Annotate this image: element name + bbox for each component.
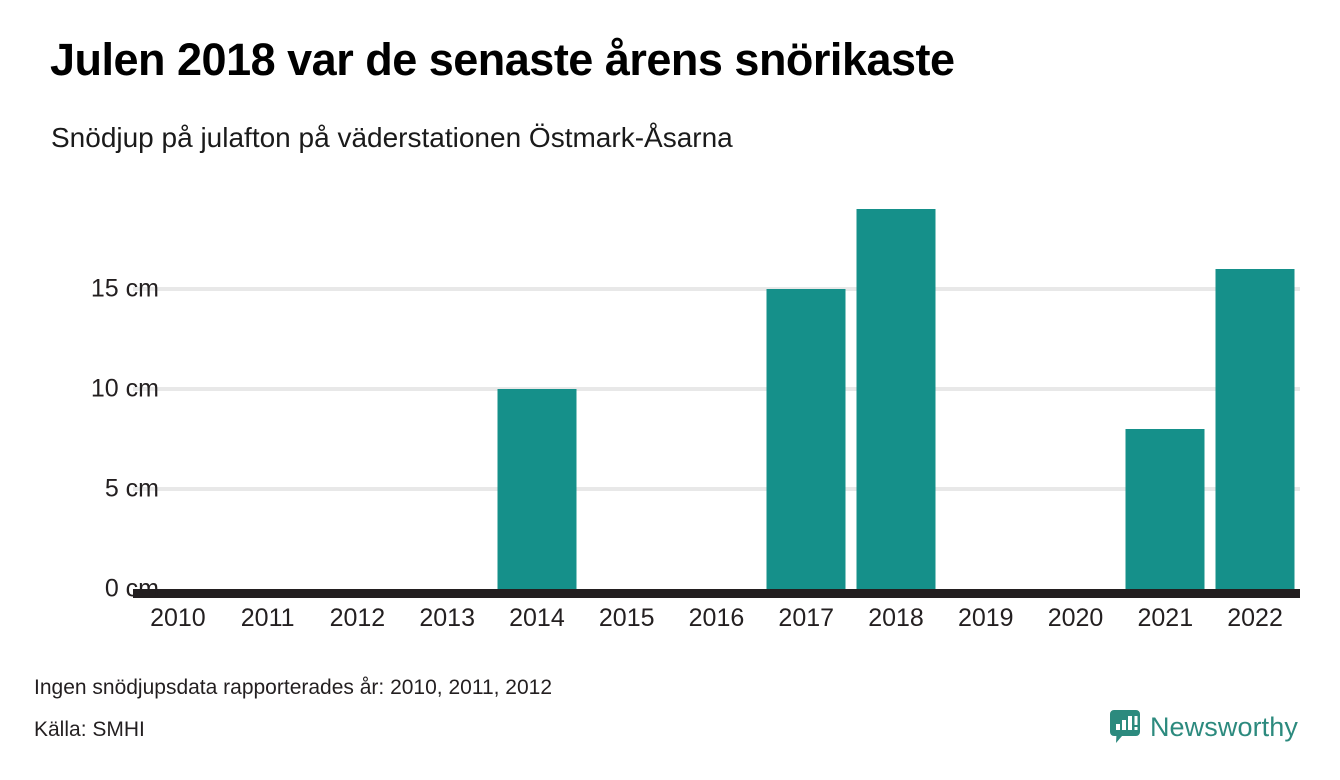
chart-page: Julen 2018 var de senaste årens snörikas… [0,0,1340,780]
x-axis-tick-2014: 2014 [492,604,582,633]
x-axis-tick-2022: 2022 [1210,604,1300,633]
x-axis-labels: 2010201120122013201420152016201720182019… [133,604,1300,633]
x-axis-tick-2019: 2019 [941,604,1031,633]
bar-2017[interactable] [767,289,846,589]
page-title: Julen 2018 var de senaste årens snörikas… [50,36,1300,85]
bar-series [133,200,1300,589]
bar-2021[interactable] [1126,429,1205,589]
bar-cell-2021 [1120,200,1210,589]
y-axis-tick-0: 0 cm [0,575,159,604]
page-subtitle: Snödjup på julafton på väderstationen Ös… [51,122,1301,154]
x-axis-tick-2017: 2017 [761,604,851,633]
x-axis-tick-2013: 2013 [402,604,492,633]
bar-cell-2016 [672,200,762,589]
bar-2022[interactable] [1216,269,1295,589]
bar-cell-2011 [223,200,313,589]
bar-cell-2015 [582,200,672,589]
bar-cell-2020 [1031,200,1121,589]
plot-area [133,200,1300,589]
x-axis-tick-2012: 2012 [313,604,403,633]
bar-cell-2019 [941,200,1031,589]
bar-cell-2017 [761,200,851,589]
x-axis-tick-2020: 2020 [1031,604,1121,633]
newsworthy-logo[interactable]: Newsworthy [1110,710,1298,744]
bar-cell-2014 [492,200,582,589]
chart-source: Källa: SMHI [34,718,145,742]
x-axis-baseline [133,589,1300,598]
newsworthy-bar-chart-bubble-icon [1110,710,1140,744]
newsworthy-logo-text: Newsworthy [1150,712,1298,743]
bar-cell-2012 [313,200,403,589]
bar-2018[interactable] [857,209,936,589]
bar-cell-2022 [1210,200,1300,589]
bar-cell-2013 [402,200,492,589]
y-axis-tick-15: 15 cm [0,275,159,304]
chart-footnote: Ingen snödjupsdata rapporterades år: 201… [34,676,552,700]
x-axis-tick-2010: 2010 [133,604,223,633]
x-axis-tick-2018: 2018 [851,604,941,633]
x-axis-tick-2016: 2016 [672,604,762,633]
bar-cell-2018 [851,200,941,589]
x-axis-tick-2011: 2011 [223,604,313,633]
y-axis-tick-10: 10 cm [0,375,159,404]
bar-2014[interactable] [497,389,576,589]
y-axis-tick-5: 5 cm [0,475,159,504]
x-axis-tick-2015: 2015 [582,604,672,633]
x-axis-tick-2021: 2021 [1120,604,1210,633]
